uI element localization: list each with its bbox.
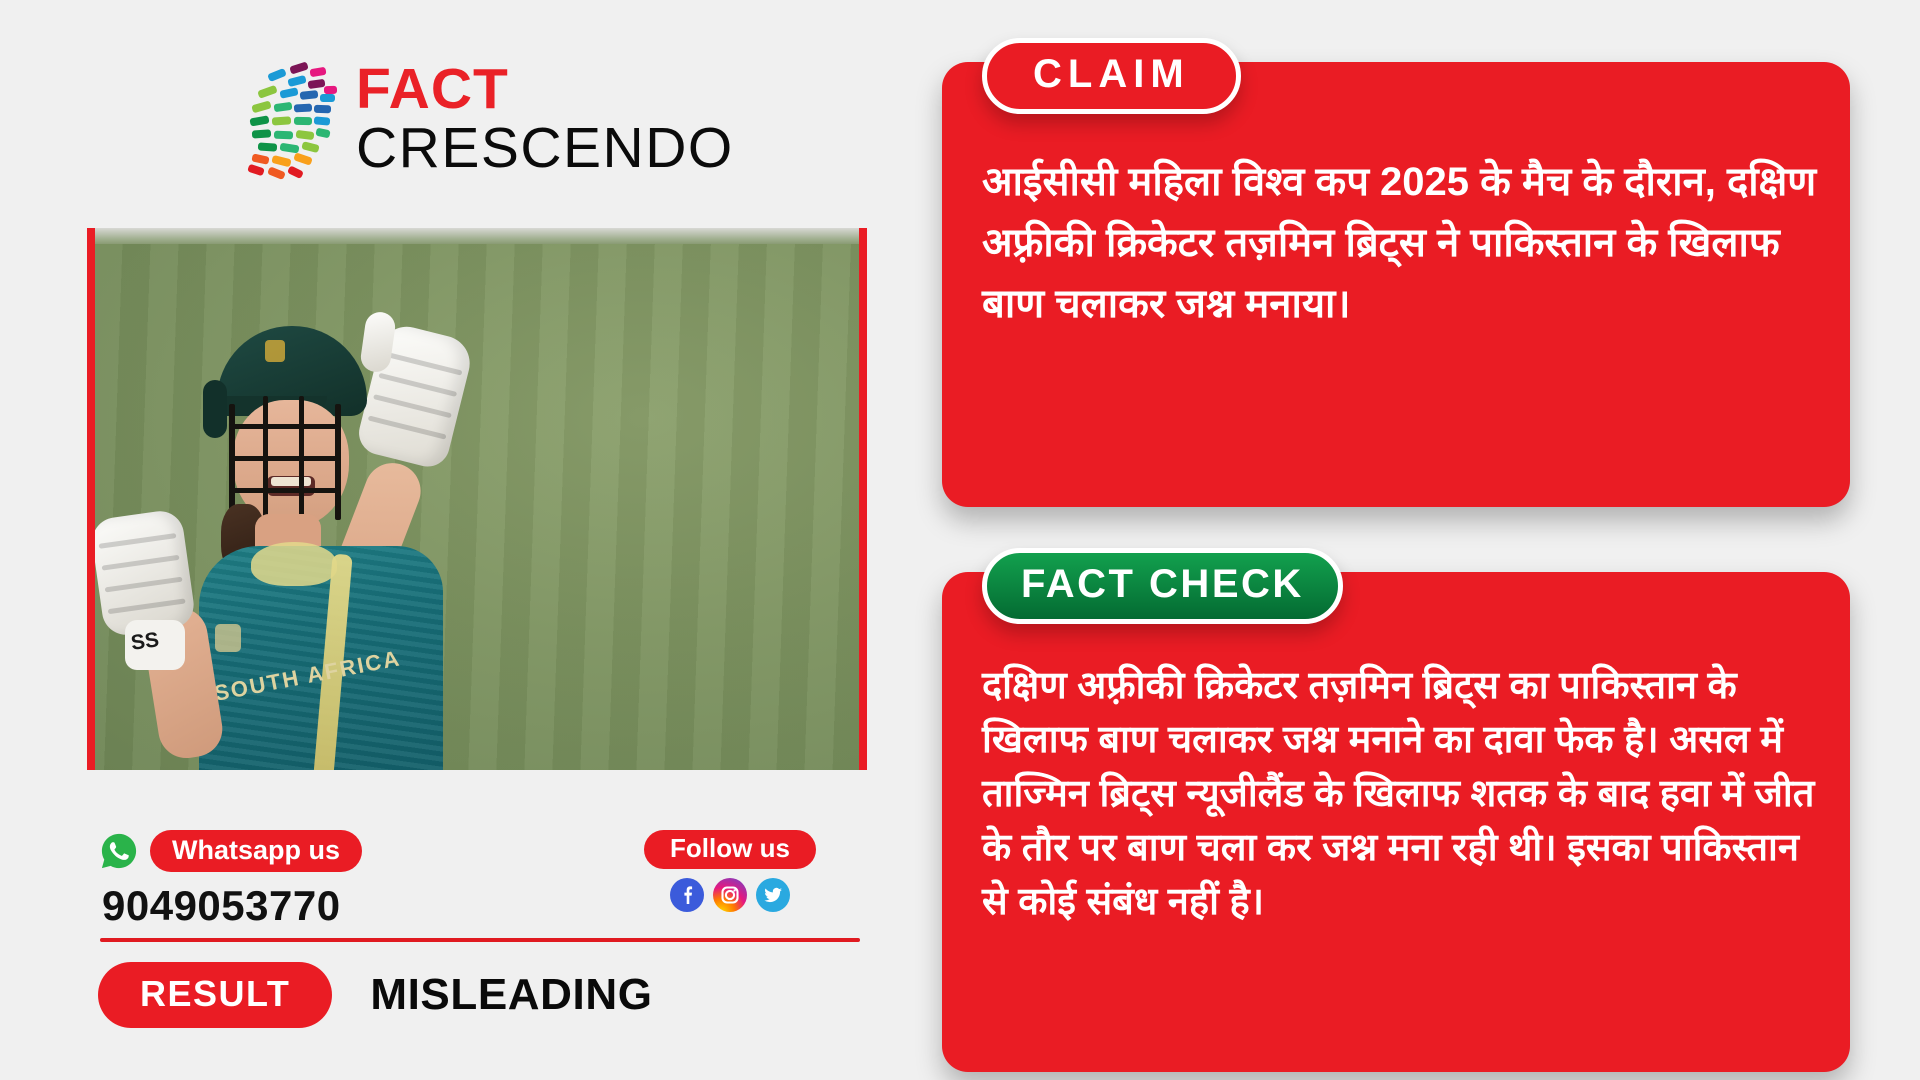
brand-name-crescendo: CRESCENDO xyxy=(356,118,734,178)
tournament-badge-icon xyxy=(215,624,241,652)
helmet-ear-guard xyxy=(203,380,227,438)
whatsapp-number: 9049053770 xyxy=(102,882,341,930)
contact-section: Whatsapp us 9049053770 Follow us xyxy=(100,830,860,930)
follow-us-button[interactable]: Follow us xyxy=(644,830,816,869)
social-icons xyxy=(630,878,830,912)
globe-mosaic-icon xyxy=(238,58,348,183)
facebook-icon[interactable] xyxy=(670,878,704,912)
fact-check-badge: FACT CHECK xyxy=(982,548,1343,624)
left-column: FACT CRESCENDO xyxy=(0,0,905,1080)
image-right-border xyxy=(859,228,867,770)
cricketer-photo: SOUTH AFRICA SS xyxy=(95,228,859,770)
whatsapp-us-button[interactable]: Whatsapp us xyxy=(150,830,362,872)
claim-image: SOUTH AFRICA SS xyxy=(87,228,867,770)
section-divider xyxy=(100,938,860,942)
right-column: CLAIM आईसीसी महिला विश्व कप 2025 के मैच … xyxy=(930,0,1920,1080)
twitter-icon[interactable] xyxy=(756,878,790,912)
whatsapp-row[interactable]: Whatsapp us xyxy=(100,830,362,872)
brand-logo: FACT CRESCENDO xyxy=(238,58,718,188)
claim-text: आईसीसी महिला विश्व कप 2025 के मैच के दौर… xyxy=(982,152,1822,334)
left-glove xyxy=(95,508,197,638)
stadium-boundary-shade xyxy=(95,228,859,244)
result-row: RESULT MISLEADING xyxy=(98,962,653,1028)
fact-check-text: दक्षिण अफ़्रीकी क्रिकेटर तज़मिन ब्रिट्स … xyxy=(982,660,1830,930)
cricketer-figure: SOUTH AFRICA SS xyxy=(155,308,555,770)
result-value: MISLEADING xyxy=(370,970,652,1020)
helmet-crest-icon xyxy=(265,340,285,362)
jersey-collar xyxy=(251,542,337,586)
instagram-icon[interactable] xyxy=(713,878,747,912)
follow-section: Follow us xyxy=(630,830,830,912)
fact-check-graphic: FACT CRESCENDO xyxy=(0,0,1920,1080)
brand-wordmark: FACT CRESCENDO xyxy=(356,60,734,178)
whatsapp-icon[interactable] xyxy=(100,832,138,870)
image-left-border xyxy=(87,228,95,770)
result-label: RESULT xyxy=(98,962,332,1028)
bat-brand-text: SS xyxy=(129,628,160,656)
claim-badge: CLAIM xyxy=(982,38,1241,114)
brand-name-fact: FACT xyxy=(356,60,734,118)
